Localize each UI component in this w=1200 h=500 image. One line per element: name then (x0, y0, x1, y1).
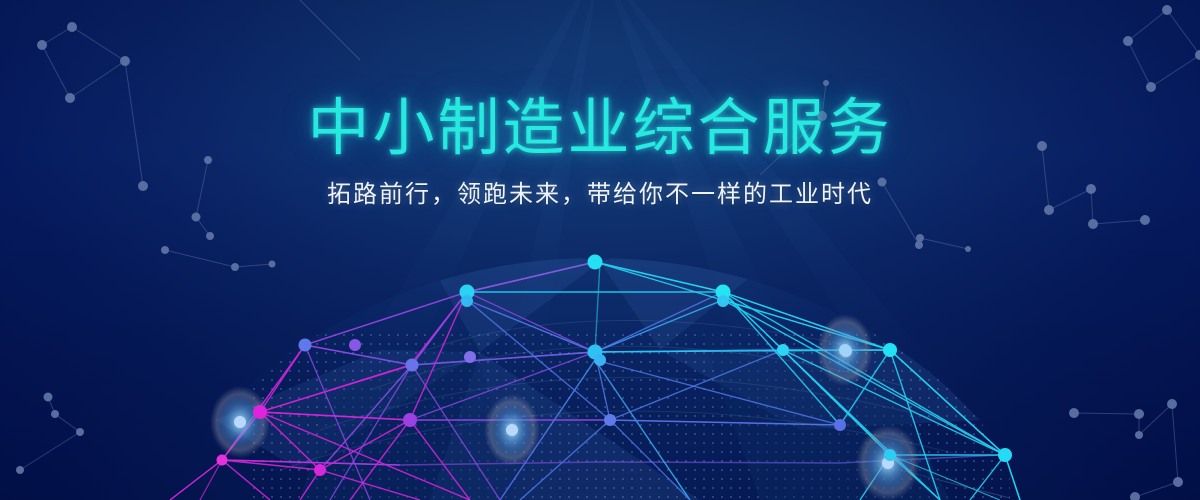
node-purple (349, 339, 417, 427)
dome-vertex-nodes (0, 0, 1200, 500)
promo-banner: 中小制造业综合服务 拓路前行，领跑未来，带给你不一样的工业时代 (0, 0, 1200, 500)
node-blue (299, 339, 847, 432)
node-magenta (217, 405, 327, 476)
page-title: 中小制造业综合服务 (0, 96, 1200, 163)
node-cyan (460, 255, 1013, 463)
headline-block: 中小制造业综合服务 拓路前行，领跑未来，带给你不一样的工业时代 (0, 96, 1200, 210)
page-subtitle: 拓路前行，领跑未来，带给你不一样的工业时代 (0, 181, 1200, 210)
